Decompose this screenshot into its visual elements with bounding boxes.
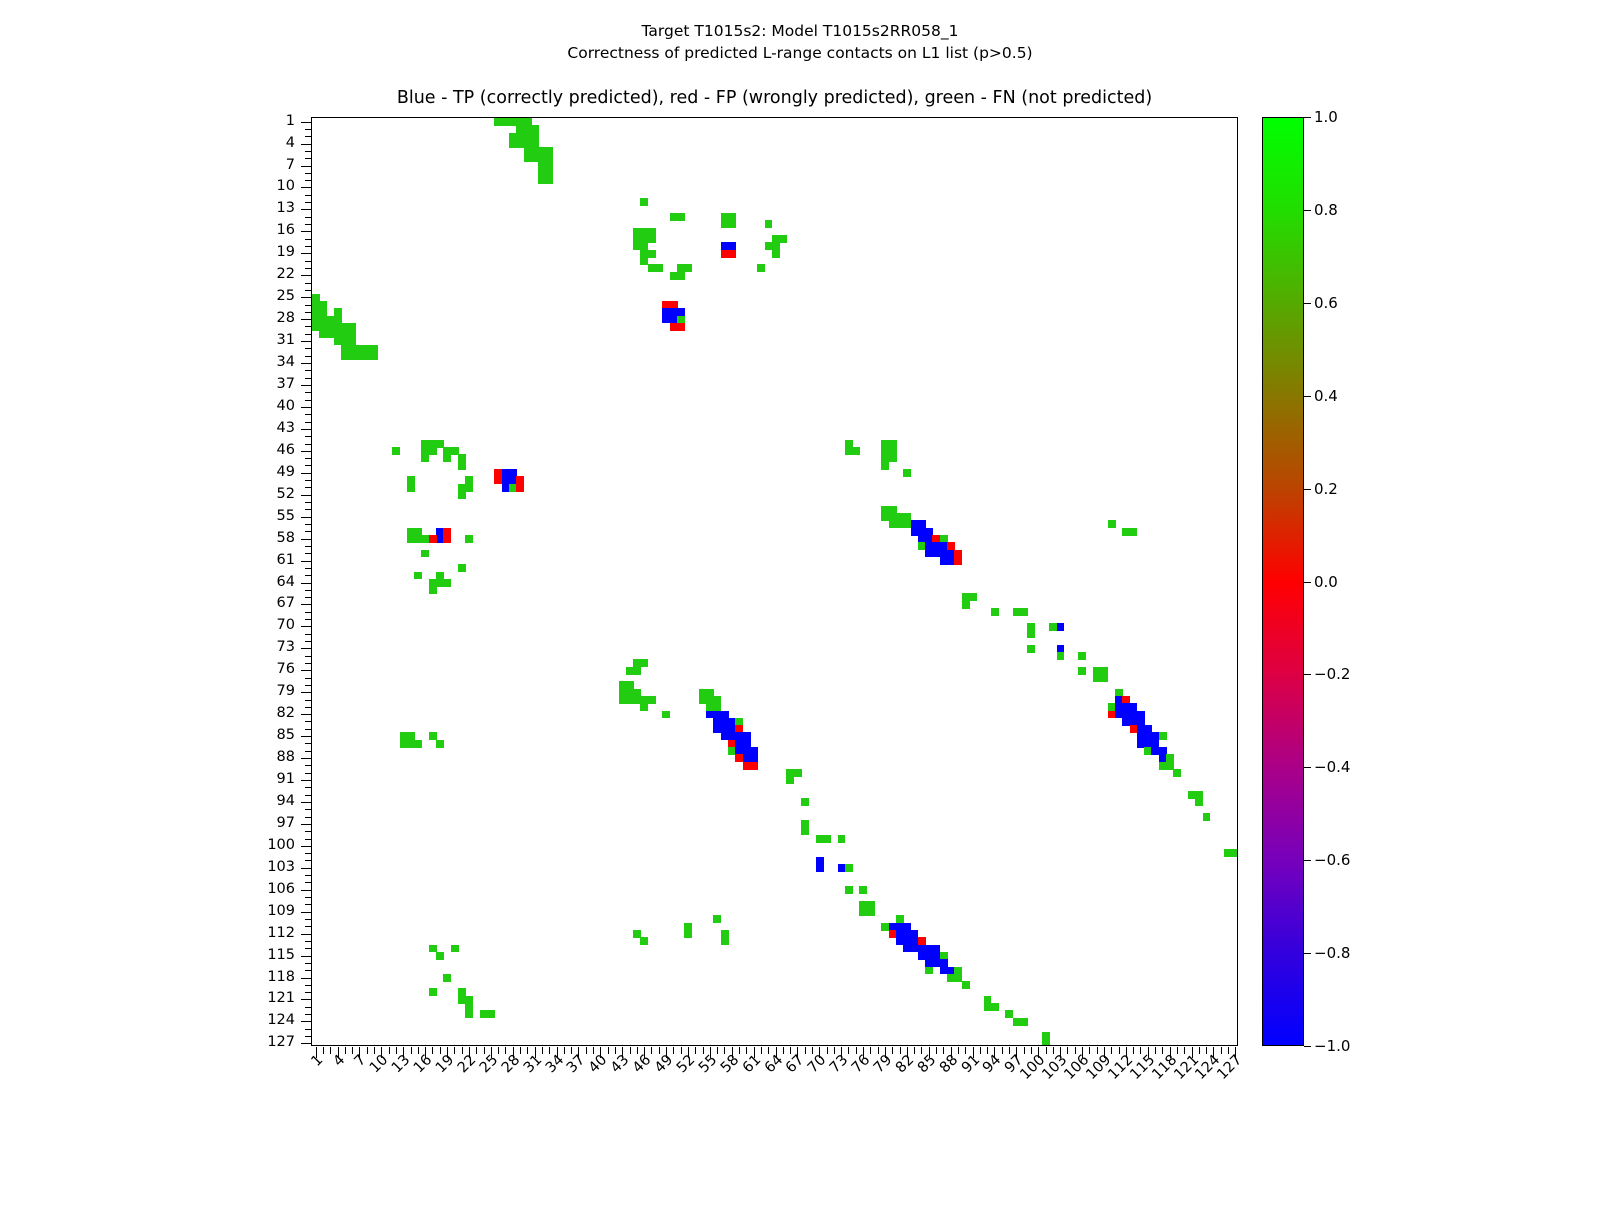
x-tick — [630, 1047, 631, 1054]
y-tick — [301, 275, 312, 276]
y-tick — [301, 341, 312, 342]
x-tick — [396, 1047, 397, 1054]
y-tick — [305, 480, 312, 481]
contact-cell-fn — [859, 886, 867, 894]
contact-cell-fn — [969, 593, 977, 601]
colorbar-tick — [1304, 1046, 1311, 1047]
colorbar-tick-label: −1.0 — [1314, 1037, 1350, 1055]
contact-cell-fn — [414, 572, 422, 580]
y-tick-label: 124 — [0, 1012, 295, 1028]
contact-cell-fn — [728, 220, 736, 228]
contact-cell-fp — [728, 250, 736, 258]
y-tick — [305, 992, 312, 993]
x-tick — [593, 1047, 594, 1054]
x-tick — [432, 1047, 433, 1054]
y-tick — [305, 941, 312, 942]
x-tick — [958, 1047, 959, 1054]
contact-cell-fn — [889, 454, 897, 462]
y-tick-label: 58 — [0, 530, 295, 546]
x-tick — [440, 1047, 441, 1054]
contact-cell-fn — [1078, 652, 1086, 660]
contact-cell-fn — [436, 952, 444, 960]
contact-cell-fn — [1020, 1018, 1028, 1026]
x-tick — [520, 1047, 521, 1054]
colorbar-tick — [1304, 396, 1311, 397]
x-tick — [586, 1047, 587, 1054]
y-tick — [305, 202, 312, 203]
contact-cell-fn — [677, 213, 685, 221]
contact-cell-fn — [421, 454, 429, 462]
contact-cell-fn — [1020, 608, 1028, 616]
y-tick — [305, 546, 312, 547]
y-tick — [305, 312, 312, 313]
contact-cell-fn — [677, 272, 685, 280]
y-tick — [301, 824, 312, 825]
y-tick — [301, 999, 312, 1000]
y-tick — [301, 670, 312, 671]
y-tick — [305, 663, 312, 664]
contact-cell-fn — [794, 769, 802, 777]
y-tick — [305, 656, 312, 657]
contact-cell-fn — [867, 908, 875, 916]
colorbar-tick — [1304, 489, 1311, 490]
y-tick — [305, 948, 312, 949]
x-tick — [914, 1047, 915, 1054]
y-tick — [301, 780, 312, 781]
y-tick-label: 91 — [0, 771, 295, 787]
y-tick — [301, 758, 312, 759]
contact-cell-fn — [684, 264, 692, 272]
contact-cell-fn — [991, 608, 999, 616]
contact-cell-fn — [962, 981, 970, 989]
y-tick — [305, 1029, 312, 1030]
y-tick — [305, 334, 312, 335]
y-tick-label: 25 — [0, 288, 295, 304]
contact-cell-fp — [443, 535, 451, 543]
y-tick-label: 121 — [0, 990, 295, 1006]
x-tick — [1024, 1047, 1025, 1054]
x-tick — [878, 1047, 879, 1054]
contact-cell-fn — [1078, 667, 1086, 675]
colorbar-tick — [1304, 674, 1311, 675]
y-tick — [305, 283, 312, 284]
y-tick — [301, 736, 312, 737]
x-tick — [681, 1047, 682, 1054]
axes-title: Blue - TP (correctly predicted), red - F… — [311, 88, 1238, 108]
y-tick-label: 49 — [0, 464, 295, 480]
y-tick — [305, 853, 312, 854]
x-tick — [484, 1047, 485, 1054]
y-tick — [305, 348, 312, 349]
contact-cell-fn — [451, 945, 459, 953]
contact-cell-fn — [640, 937, 648, 945]
colorbar[interactable] — [1262, 117, 1304, 1046]
y-tick — [301, 802, 312, 803]
y-tick — [305, 882, 312, 883]
y-tick — [301, 890, 312, 891]
y-tick — [301, 868, 312, 869]
y-tick — [305, 378, 312, 379]
contact-cell-fp — [954, 557, 962, 565]
y-tick-label: 100 — [0, 837, 295, 853]
x-tick — [418, 1047, 419, 1054]
y-tick — [301, 363, 312, 364]
y-tick — [305, 1014, 312, 1015]
y-tick-label: 118 — [0, 969, 295, 985]
y-tick — [305, 729, 312, 730]
y-tick — [305, 597, 312, 598]
x-tick — [352, 1047, 353, 1054]
contact-cell-fn — [458, 564, 466, 572]
y-tick — [301, 231, 312, 232]
colorbar-tick-label: 0.2 — [1314, 480, 1338, 498]
y-tick-label: 10 — [0, 178, 295, 194]
contact-cell-fn — [458, 462, 466, 470]
y-tick-label: 115 — [0, 947, 295, 963]
x-tick — [834, 1047, 835, 1054]
x-tick — [717, 1047, 718, 1054]
y-tick-label: 46 — [0, 442, 295, 458]
x-tick — [476, 1047, 477, 1054]
x-tick — [549, 1047, 550, 1054]
contact-cell-fp — [677, 323, 685, 331]
x-tick — [1140, 1047, 1141, 1054]
y-tick — [301, 122, 312, 123]
y-tick — [305, 685, 312, 686]
contact-cell-fn — [1173, 769, 1181, 777]
contact-cell-fn — [436, 740, 444, 748]
x-tick — [783, 1047, 784, 1054]
contact-map-plot[interactable] — [311, 117, 1238, 1046]
x-tick — [892, 1047, 893, 1054]
contact-cell-fn — [407, 484, 415, 492]
y-tick — [305, 568, 312, 569]
y-tick-label: 112 — [0, 925, 295, 941]
contact-cell-fn — [1195, 798, 1203, 806]
x-tick — [1177, 1047, 1178, 1054]
x-tick — [987, 1047, 988, 1054]
y-tick — [305, 151, 312, 152]
y-tick — [305, 575, 312, 576]
y-tick — [301, 187, 312, 188]
x-tick — [812, 1047, 813, 1054]
y-tick — [301, 934, 312, 935]
y-tick — [301, 626, 312, 627]
x-tick — [659, 1047, 660, 1054]
y-tick — [301, 714, 312, 715]
contact-cell-fn — [1027, 645, 1035, 653]
y-tick-label: 67 — [0, 595, 295, 611]
contact-cell-fn — [1232, 849, 1237, 857]
contact-cell-fn — [662, 711, 670, 719]
x-tick — [827, 1047, 828, 1054]
x-tick — [571, 1047, 572, 1054]
y-tick-label: 28 — [0, 310, 295, 326]
y-tick — [305, 839, 312, 840]
figure-canvas: Target T1015s2: Model T1015s2RR058_1 Cor… — [0, 0, 1600, 1200]
y-tick-label: 88 — [0, 749, 295, 765]
x-tick — [1133, 1047, 1134, 1054]
contact-cell-fn — [1057, 652, 1065, 660]
contact-cell-fn — [721, 937, 729, 945]
y-tick — [301, 407, 312, 408]
colorbar-tick-label: 0.0 — [1314, 573, 1338, 591]
colorbar-tick-label: −0.6 — [1314, 851, 1350, 869]
x-tick — [608, 1047, 609, 1054]
contact-cell-fn — [713, 915, 721, 923]
figure-suptitle: Target T1015s2: Model T1015s2RR058_1 Cor… — [0, 20, 1600, 64]
y-tick — [305, 634, 312, 635]
x-tick — [1155, 1047, 1156, 1054]
y-tick — [305, 765, 312, 766]
y-tick — [305, 590, 312, 591]
y-tick — [305, 773, 312, 774]
contact-cell-tp — [1057, 623, 1065, 631]
x-tick — [746, 1047, 747, 1054]
y-tick — [301, 648, 312, 649]
contact-cell-fn — [881, 462, 889, 470]
contact-cell-fn — [465, 535, 473, 543]
y-tick — [305, 553, 312, 554]
y-tick — [301, 429, 312, 430]
contact-cell-fn — [546, 177, 554, 185]
contact-cell-tp — [816, 864, 824, 872]
colorbar-tick — [1304, 767, 1311, 768]
y-tick — [301, 297, 312, 298]
x-tick — [637, 1047, 638, 1054]
y-tick — [305, 217, 312, 218]
colorbar-tick — [1304, 303, 1311, 304]
y-tick-label: 94 — [0, 793, 295, 809]
y-tick — [305, 970, 312, 971]
y-tick — [305, 180, 312, 181]
y-tick — [305, 743, 312, 744]
y-tick — [305, 531, 312, 532]
x-tick — [673, 1047, 674, 1054]
colorbar-tick-label: 0.6 — [1314, 294, 1338, 312]
y-tick — [305, 831, 312, 832]
x-tick — [1097, 1047, 1098, 1054]
contact-cell-fn — [640, 703, 648, 711]
contact-cell-fp — [516, 484, 524, 492]
y-tick — [301, 166, 312, 167]
colorbar-tick-label: 1.0 — [1314, 108, 1338, 126]
colorbar-tick — [1304, 210, 1311, 211]
y-tick — [305, 809, 312, 810]
contact-cell-fn — [757, 264, 765, 272]
y-tick-label: 7 — [0, 157, 295, 173]
y-tick — [305, 904, 312, 905]
contact-cell-fn — [429, 447, 437, 455]
y-tick — [301, 539, 312, 540]
y-tick-label: 52 — [0, 486, 295, 502]
contact-cell-fn — [465, 484, 473, 492]
x-tick — [790, 1047, 791, 1054]
y-tick — [305, 641, 312, 642]
y-tick-label: 37 — [0, 376, 295, 392]
contact-cell-fn — [465, 1010, 473, 1018]
y-tick-label: 127 — [0, 1034, 295, 1050]
y-tick — [301, 253, 312, 254]
y-tick — [305, 444, 312, 445]
y-tick — [305, 897, 312, 898]
y-tick — [305, 465, 312, 466]
y-tick — [305, 502, 312, 503]
contact-cell-fn — [765, 220, 773, 228]
contact-cell-fn — [421, 550, 429, 558]
x-tick — [542, 1047, 543, 1054]
y-tick-label: 73 — [0, 639, 295, 655]
contact-map-cells — [312, 118, 1237, 1045]
contact-cell-fn — [1100, 674, 1108, 682]
x-tick — [1119, 1047, 1120, 1054]
y-tick-label: 76 — [0, 661, 295, 677]
x-tick — [900, 1047, 901, 1054]
x-tick — [1053, 1047, 1054, 1054]
y-tick-label: 61 — [0, 552, 295, 568]
contact-cell-fn — [640, 198, 648, 206]
y-tick — [305, 751, 312, 752]
x-tick — [1009, 1047, 1010, 1054]
y-tick — [305, 246, 312, 247]
y-tick — [305, 926, 312, 927]
y-tick — [305, 619, 312, 620]
contact-cell-fn — [925, 967, 933, 975]
y-tick — [301, 1021, 312, 1022]
contact-cell-fp — [429, 535, 437, 543]
y-tick-label: 31 — [0, 332, 295, 348]
colorbar-tick — [1304, 953, 1311, 954]
x-tick — [330, 1047, 331, 1054]
contact-cell-fn — [429, 586, 437, 594]
x-tick — [856, 1047, 857, 1054]
y-tick — [301, 604, 312, 605]
y-tick-label: 4 — [0, 135, 295, 151]
y-tick — [305, 795, 312, 796]
y-tick — [301, 1043, 312, 1044]
y-tick-label: 97 — [0, 815, 295, 831]
y-tick-label: 22 — [0, 266, 295, 282]
contact-cell-fp — [750, 762, 758, 770]
y-tick — [301, 978, 312, 979]
contact-cell-fn — [786, 776, 794, 784]
x-tick — [870, 1047, 871, 1054]
y-tick — [305, 875, 312, 876]
contact-cell-fn — [370, 352, 378, 360]
x-tick — [1199, 1047, 1200, 1054]
contact-cell-fn — [655, 264, 663, 272]
x-tick — [921, 1047, 922, 1054]
contact-cell-fn — [903, 469, 911, 477]
y-tick — [305, 261, 312, 262]
y-tick-label: 16 — [0, 222, 295, 238]
y-tick-label: 40 — [0, 398, 295, 414]
x-tick — [1067, 1047, 1068, 1054]
y-tick — [305, 787, 312, 788]
contact-cell-fn — [684, 930, 692, 938]
y-tick — [305, 370, 312, 371]
x-tick — [389, 1047, 390, 1054]
y-tick — [305, 1007, 312, 1008]
colorbar-tick — [1304, 117, 1311, 118]
y-tick — [305, 817, 312, 818]
y-tick — [301, 385, 312, 386]
y-tick — [301, 912, 312, 913]
x-tick — [848, 1047, 849, 1054]
y-tick — [305, 487, 312, 488]
y-tick-label: 43 — [0, 420, 295, 436]
contact-cell-fn — [633, 667, 641, 675]
x-tick — [936, 1047, 937, 1054]
x-tick — [768, 1047, 769, 1054]
contact-cell-fn — [801, 798, 809, 806]
x-tick — [505, 1047, 506, 1054]
colorbar-tick-label: −0.8 — [1314, 944, 1350, 962]
x-tick — [1002, 1047, 1003, 1054]
contact-cell-fn — [458, 491, 466, 499]
contact-cell-fn — [1027, 630, 1035, 638]
y-tick — [305, 414, 312, 415]
suptitle-line-2: Correctness of predicted L-range contact… — [0, 42, 1600, 64]
colorbar-tick — [1304, 860, 1311, 861]
y-tick — [301, 319, 312, 320]
x-tick — [1089, 1047, 1090, 1054]
y-tick — [301, 956, 312, 957]
x-tick — [651, 1047, 652, 1054]
y-tick-label: 79 — [0, 683, 295, 699]
x-tick — [462, 1047, 463, 1054]
contact-cell-fn — [392, 447, 400, 455]
contact-cell-fn — [1042, 1040, 1050, 1045]
contact-cell-fn — [443, 454, 451, 462]
y-tick — [305, 436, 312, 437]
x-tick — [943, 1047, 944, 1054]
y-tick — [305, 158, 312, 159]
y-tick — [305, 700, 312, 701]
x-tick — [1046, 1047, 1047, 1054]
contact-cell-fn — [845, 886, 853, 894]
contact-cell-fn — [1159, 732, 1167, 740]
y-tick-label: 13 — [0, 200, 295, 216]
x-tick — [498, 1047, 499, 1054]
x-tick — [739, 1047, 740, 1054]
y-tick — [305, 305, 312, 306]
y-tick — [305, 985, 312, 986]
y-tick-label: 109 — [0, 903, 295, 919]
x-tick — [323, 1047, 324, 1054]
y-tick — [301, 473, 312, 474]
y-tick — [305, 326, 312, 327]
y-tick — [305, 268, 312, 269]
y-tick — [305, 524, 312, 525]
y-tick — [305, 136, 312, 137]
y-tick — [301, 692, 312, 693]
y-tick — [305, 860, 312, 861]
contact-cell-fn — [443, 579, 451, 587]
x-tick — [454, 1047, 455, 1054]
y-tick — [301, 583, 312, 584]
contact-cell-fn — [443, 974, 451, 982]
x-tick — [1206, 1047, 1207, 1054]
colorbar-tick-label: −0.2 — [1314, 665, 1350, 683]
x-tick — [527, 1047, 528, 1054]
contact-cell-fn — [1130, 528, 1138, 536]
y-tick — [301, 144, 312, 145]
x-tick — [695, 1047, 696, 1054]
y-tick — [301, 209, 312, 210]
contact-cell-fn — [414, 740, 422, 748]
y-tick — [305, 458, 312, 459]
